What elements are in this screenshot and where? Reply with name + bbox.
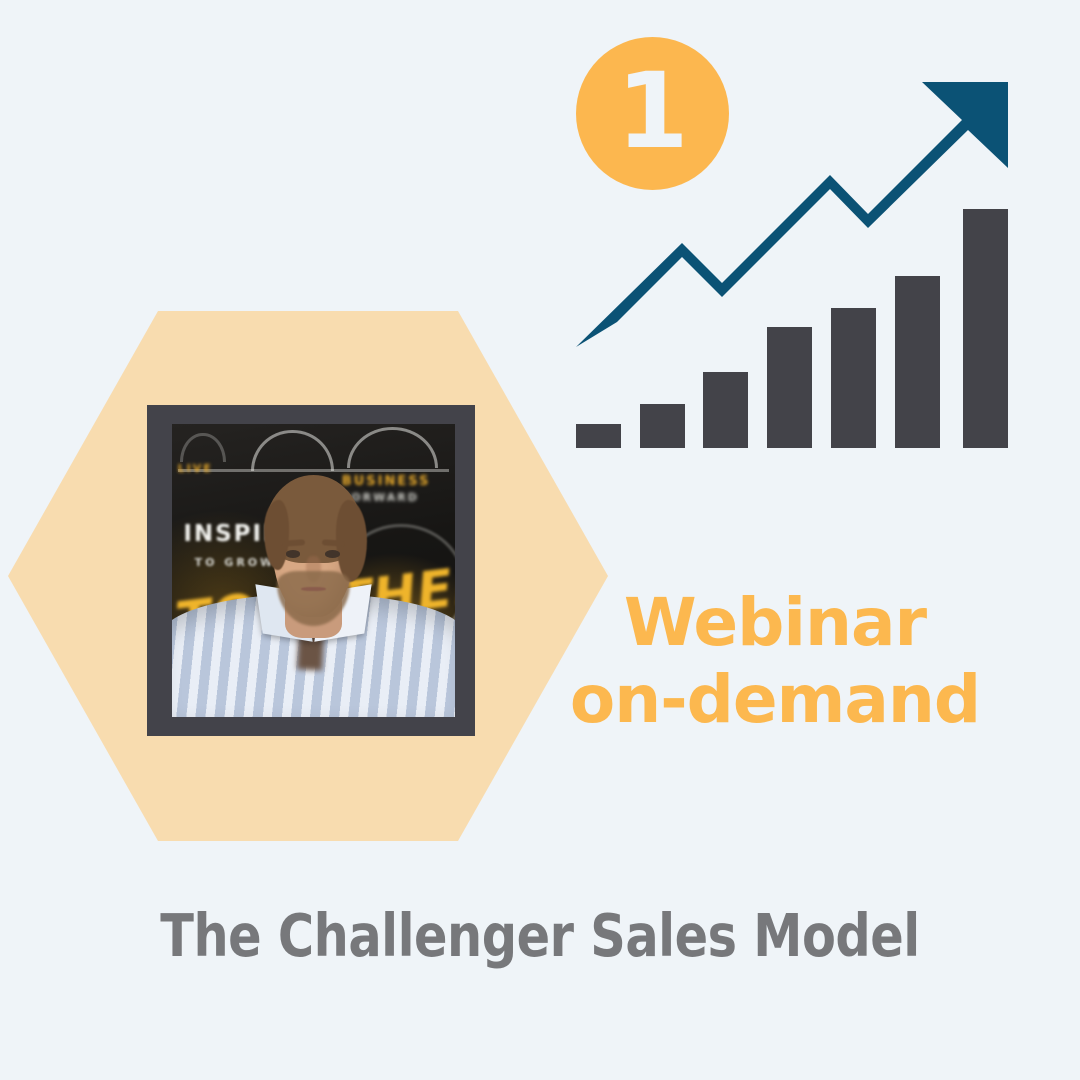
speaker-portrait: LIVE BUSINESS FORWARD INSPIRE TO GROW TO… bbox=[172, 424, 455, 717]
bar-5 bbox=[831, 308, 876, 448]
eye-right bbox=[325, 550, 340, 558]
speaker-photo-frame: LIVE BUSINESS FORWARD INSPIRE TO GROW TO… bbox=[147, 405, 475, 736]
bar-3 bbox=[703, 372, 748, 448]
page-title: The Challenger Sales Model bbox=[38, 901, 1042, 970]
bar-4 bbox=[767, 327, 812, 448]
person-figure bbox=[172, 424, 455, 717]
bar-2 bbox=[640, 404, 685, 448]
step-number: 1 bbox=[616, 59, 688, 163]
bar-1 bbox=[576, 424, 621, 448]
eye-left bbox=[286, 550, 301, 558]
headline-line-1: Webinar bbox=[540, 584, 1010, 661]
headline-line-2: on-demand bbox=[540, 661, 1010, 738]
chart-bars bbox=[576, 209, 1008, 448]
bar-7 bbox=[963, 209, 1008, 448]
bar-6 bbox=[895, 276, 940, 448]
poster-canvas: LIVE BUSINESS FORWARD INSPIRE TO GROW TO… bbox=[0, 0, 1080, 1080]
step-number-badge: 1 bbox=[576, 37, 729, 190]
headline: Webinar on-demand bbox=[540, 584, 1010, 738]
